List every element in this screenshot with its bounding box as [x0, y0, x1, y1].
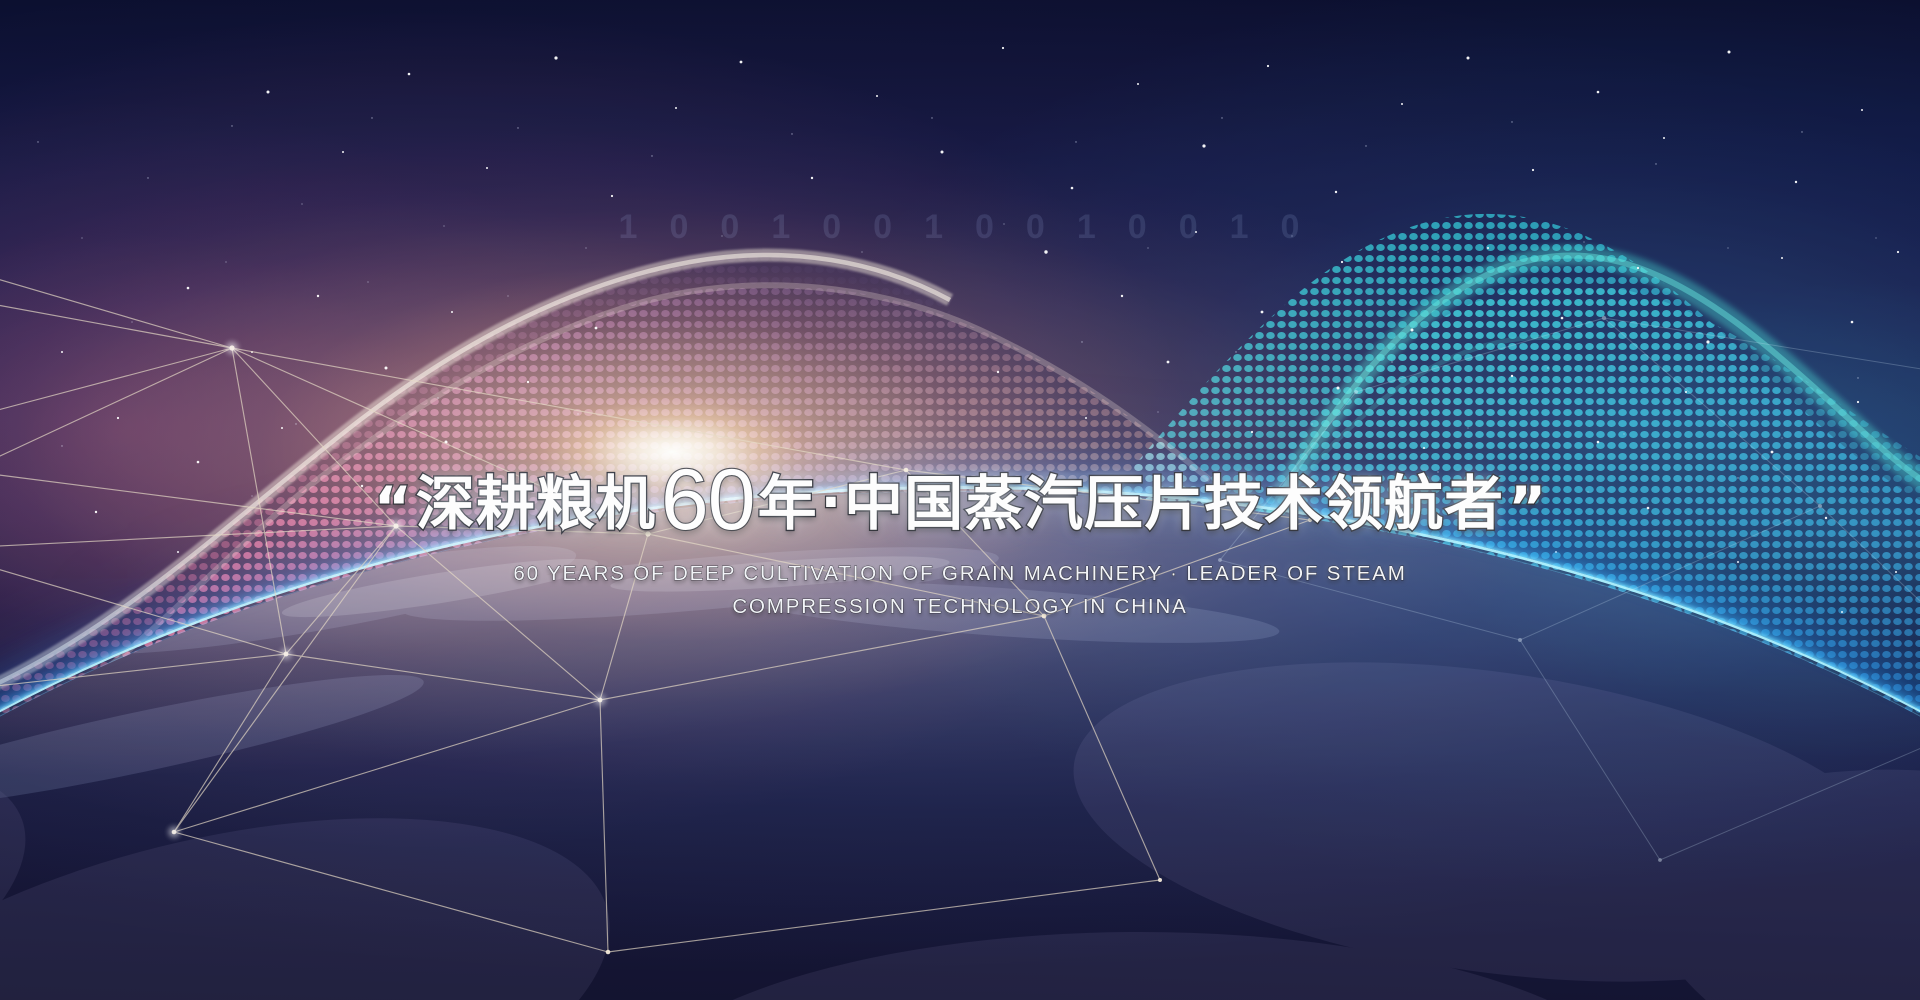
hero-banner: 1 0 0 1 0 0 1 0 0 1 0 0 1 0	[0, 0, 1920, 1000]
title-separator-dot: ·	[821, 476, 842, 530]
binary-digit: 1	[771, 208, 792, 247]
title-cn-part3: 中国蒸汽压片技术领航者	[844, 474, 1504, 533]
title-cn-part1: 深耕粮机	[416, 474, 656, 533]
title-cn-part2: 年	[758, 474, 818, 533]
binary-digit: 0	[1128, 208, 1149, 247]
binary-digit: 0	[1179, 208, 1200, 247]
binary-digit-decoration: 1 0 0 1 0 0 1 0 0 1 0 0 1 0	[0, 208, 1920, 247]
title-anniversary-number: 60	[661, 457, 755, 543]
binary-digit: 1	[1230, 208, 1251, 247]
binary-digit: 0	[975, 208, 996, 247]
page-title: “ 深耕粮机 60 年 · 中国蒸汽压片技术领航者 ”	[0, 452, 1920, 538]
binary-digit: 1	[924, 208, 945, 247]
binary-digit: 0	[873, 208, 894, 247]
quote-close-mark: ”	[1508, 479, 1546, 537]
binary-digit: 0	[1281, 208, 1302, 247]
binary-digit: 1	[1077, 208, 1098, 247]
binary-digit: 0	[1026, 208, 1047, 247]
binary-digit: 0	[669, 208, 690, 247]
subtitle-line-2: COMPRESSION TECHNOLOGY IN CHINA	[0, 591, 1920, 622]
binary-digit: 1	[619, 208, 640, 247]
headline-block: “ 深耕粮机 60 年 · 中国蒸汽压片技术领航者 ” 60 YEARS OF …	[0, 452, 1920, 622]
binary-digit: 0	[720, 208, 741, 247]
subtitle-line-1: 60 YEARS OF DEEP CULTIVATION OF GRAIN MA…	[0, 558, 1920, 589]
quote-open-mark: “	[374, 479, 412, 537]
binary-digit: 0	[822, 208, 843, 247]
